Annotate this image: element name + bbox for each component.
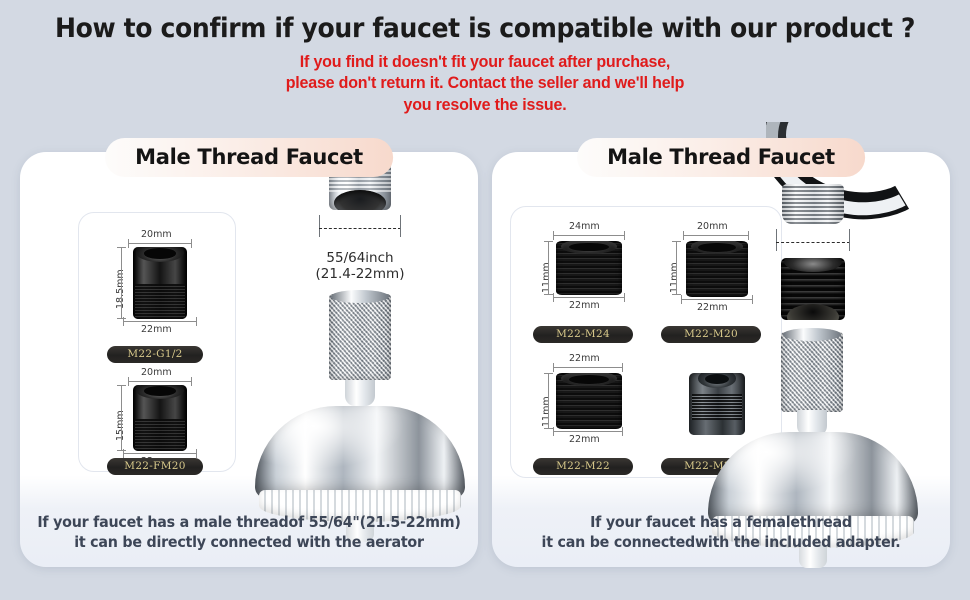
measure-end-right bbox=[849, 229, 850, 251]
dim-rule-side-m22 bbox=[548, 373, 549, 429]
warning-note: If you find it doesn't fit your faucet a… bbox=[15, 52, 956, 117]
aerator-knurled-body-left bbox=[329, 294, 391, 380]
caption-line-1: If your faucet has a male threadof 55/64… bbox=[31, 512, 466, 533]
dim-tick-m24c bbox=[544, 241, 553, 242]
dim-top-2: 20mm bbox=[141, 367, 172, 378]
measure-bar bbox=[776, 242, 850, 243]
black-adapter-right bbox=[781, 258, 845, 320]
dim-tick-m22b bbox=[622, 363, 623, 372]
panel-caption-left: If your faucet has a male threadof 55/64… bbox=[20, 512, 478, 553]
dim-tick-1b bbox=[191, 239, 192, 248]
dim-tick-m20d bbox=[672, 294, 681, 295]
dim-tick-1a bbox=[128, 239, 129, 248]
adapter-body-m22-fm20 bbox=[133, 385, 187, 451]
warning-line-3: you resolve the issue. bbox=[15, 95, 956, 117]
dim-tick-m24b bbox=[624, 231, 625, 240]
header: How to confirm if your faucet is compati… bbox=[0, 0, 970, 117]
dim-rule-side-m24 bbox=[548, 241, 549, 295]
adapter-body-m22-m22 bbox=[556, 373, 622, 429]
panel-female-thread-adapter: Male Thread Faucet 24mm 11mm bbox=[492, 152, 950, 567]
adapter-body-m22-m23 bbox=[689, 373, 745, 435]
dim-rule-side-2 bbox=[121, 385, 122, 451]
measure-dashline-right bbox=[776, 238, 850, 248]
caption-line-1: If your faucet has a femalethread bbox=[503, 512, 938, 533]
adapter-label-m22-m24: M22-M24 bbox=[533, 326, 633, 343]
dim-tick-1f bbox=[196, 317, 197, 326]
dim-rule-bottom-m22 bbox=[553, 431, 623, 432]
adapter-body-m22-m20 bbox=[686, 241, 748, 297]
measure-bar bbox=[319, 228, 401, 229]
panel-body-left: 20mm 18.5mm 22mm bbox=[20, 192, 478, 502]
dim-rule-bottom-2 bbox=[123, 453, 197, 454]
dim-side-m24: 11mm bbox=[541, 262, 552, 293]
dim-top-m20: 20mm bbox=[697, 221, 728, 232]
adapter-label-m22-g12: M22-G1/2 bbox=[107, 346, 203, 363]
dim-tick-1d bbox=[117, 318, 126, 319]
fitting-threads bbox=[692, 394, 741, 421]
measure-line-2: (21.4-22mm) bbox=[250, 266, 470, 282]
dim-rule-bottom-m24 bbox=[553, 297, 625, 298]
dim-tick-1e bbox=[123, 317, 124, 326]
panel-badge-left: Male Thread Faucet bbox=[105, 138, 393, 177]
measure-caption-left: 55/64inch (21.4-22mm) bbox=[250, 250, 470, 282]
dim-tick-m22e bbox=[553, 427, 554, 436]
adapter-body-m22-m24 bbox=[556, 241, 622, 295]
dim-top-m24: 24mm bbox=[569, 221, 600, 232]
dim-tick-m24d bbox=[544, 294, 553, 295]
dim-rule-top-m22 bbox=[553, 367, 623, 368]
dome-cap bbox=[255, 406, 465, 498]
panel-badge-right: Male Thread Faucet bbox=[577, 138, 865, 177]
dome-cap bbox=[708, 432, 918, 524]
product-assembly-left: 55/64inch (21.4-22mm) bbox=[250, 156, 470, 526]
dim-tick-m20e bbox=[681, 295, 682, 304]
dim-rule-bottom-m20 bbox=[681, 299, 753, 300]
panel-body-right: 24mm 11mm 22mm M22-M24 bbox=[492, 192, 950, 502]
adapter-label-m22-m22: M22-M22 bbox=[533, 458, 633, 475]
dim-tick-m20f bbox=[752, 295, 753, 304]
dim-tick-m24f bbox=[624, 293, 625, 302]
dim-top-1: 20mm bbox=[141, 229, 172, 240]
adapter-spec-m22-m24: 24mm 11mm 22mm bbox=[523, 221, 651, 319]
dim-bottom-m22: 22mm bbox=[569, 434, 600, 445]
dim-tick-2e bbox=[123, 449, 124, 458]
dim-tick-m24e bbox=[553, 293, 554, 302]
dim-rule-bottom-1 bbox=[123, 321, 197, 322]
dim-bottom-m20: 22mm bbox=[697, 302, 728, 313]
dim-tick-m22d bbox=[544, 428, 553, 429]
dim-tick-1c bbox=[117, 247, 126, 248]
adapter-label-m22-m20: M22-M20 bbox=[661, 326, 761, 343]
dim-tick-2d bbox=[117, 450, 126, 451]
dim-tick-m24a bbox=[553, 231, 554, 240]
warning-line-1: If you find it doesn't fit your faucet a… bbox=[15, 52, 956, 74]
spout-threaded-tip bbox=[782, 184, 844, 224]
dim-tick-m22f bbox=[622, 427, 623, 436]
dim-tick-m20b bbox=[748, 231, 749, 240]
dim-tick-m22a bbox=[553, 363, 554, 372]
dim-rule-side-m20 bbox=[676, 241, 677, 295]
aerator-neck-left bbox=[345, 380, 375, 406]
adapter-threads bbox=[135, 284, 185, 319]
dim-side-m22: 11mm bbox=[541, 396, 552, 427]
measure-dashline-left bbox=[319, 224, 401, 234]
panel-male-thread-direct: Male Thread Faucet 20mm 18.5mm bbox=[20, 152, 478, 567]
panel-caption-right: If your faucet has a femalethread it can… bbox=[492, 512, 950, 553]
caption-line-2: it can be directly connected with the ae… bbox=[31, 532, 466, 553]
comparison-panels: Male Thread Faucet 20mm 18.5mm bbox=[0, 152, 970, 572]
dim-rule-top-m20 bbox=[683, 235, 749, 236]
adapter-body-m22-g12 bbox=[133, 247, 187, 319]
warning-line-2: please don't return it. Contact the sell… bbox=[15, 73, 956, 95]
dim-tick-2f bbox=[196, 449, 197, 458]
dim-bottom-1: 22mm bbox=[141, 324, 172, 335]
dim-tick-m20a bbox=[683, 231, 684, 240]
dim-rule-top-2 bbox=[128, 381, 192, 382]
adapter-spec-box-left: 20mm 18.5mm 22mm bbox=[78, 212, 236, 472]
sprayer-dome-left bbox=[255, 406, 465, 526]
caption-line-2: it can be connectedwith the included ada… bbox=[503, 532, 938, 553]
dim-tick-2b bbox=[191, 377, 192, 386]
dim-tick-m22c bbox=[544, 373, 553, 374]
dim-rule-top-m24 bbox=[553, 235, 625, 236]
dim-side-m20: 11mm bbox=[669, 262, 680, 293]
page-title: How to confirm if your faucet is compati… bbox=[34, 14, 936, 44]
adapter-threads bbox=[135, 419, 185, 451]
adapter-spec-m22-m20: 20mm 11mm 22mm bbox=[651, 221, 779, 319]
dim-top-m22: 22mm bbox=[569, 353, 600, 364]
adapter-spec-m22-m22: 22mm 11mm 22mm bbox=[523, 353, 651, 451]
adapter-spec-m22-g12: 20mm 18.5mm 22mm bbox=[93, 229, 223, 341]
dim-rule-side-1 bbox=[121, 247, 122, 319]
measure-end-right bbox=[400, 215, 401, 237]
adapter-label-m22-fm20: M22-FM20 bbox=[107, 458, 203, 475]
aerator-knurled-body-right bbox=[781, 332, 843, 412]
dim-tick-m20c bbox=[672, 241, 681, 242]
dim-tick-2a bbox=[128, 377, 129, 386]
adapter-top-rim bbox=[784, 258, 842, 272]
measure-end-left bbox=[776, 229, 777, 251]
dim-tick-2c bbox=[117, 385, 126, 386]
adapter-bottom-rim bbox=[787, 304, 838, 320]
dim-bottom-m24: 22mm bbox=[569, 300, 600, 311]
measure-end-left bbox=[319, 215, 320, 237]
measure-line-1: 55/64inch bbox=[250, 250, 470, 266]
dim-rule-top-1 bbox=[128, 243, 192, 244]
